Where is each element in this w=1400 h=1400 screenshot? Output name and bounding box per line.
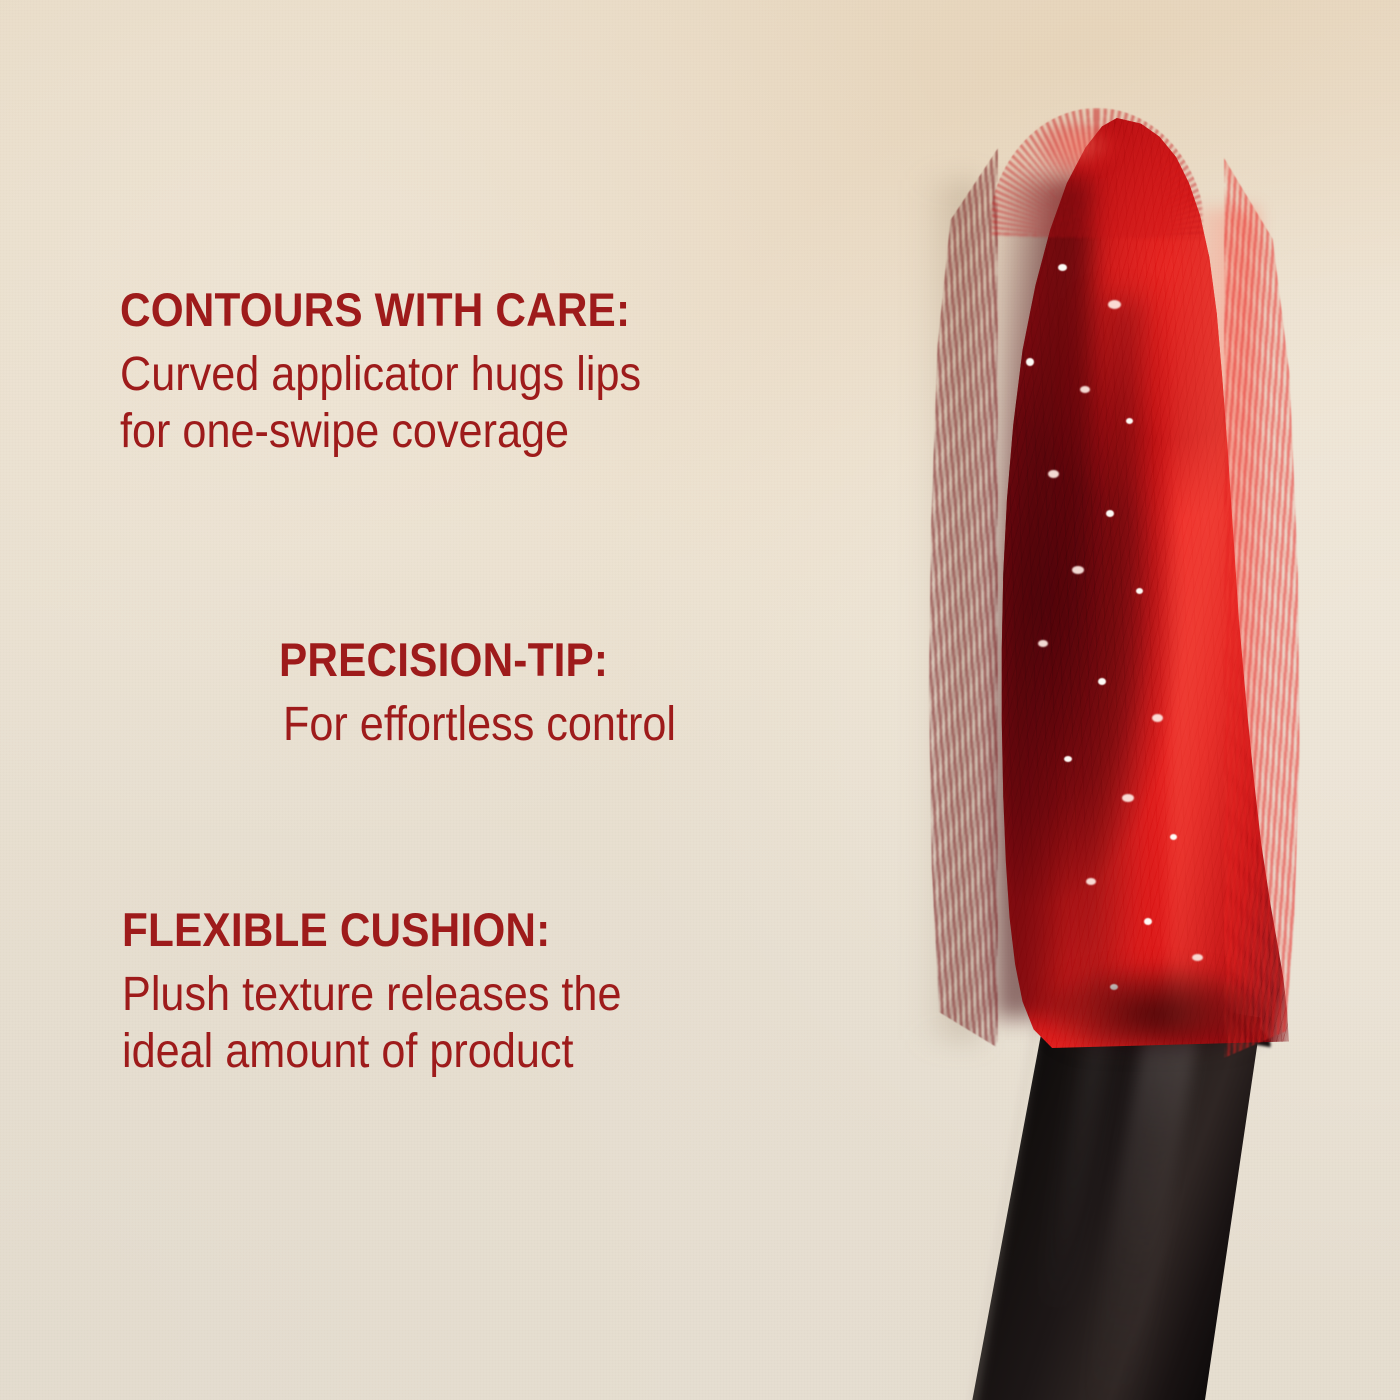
feature-heading: FLEXIBLE CUSHION: [122, 906, 621, 953]
feature-heading: PRECISION-TIP: [279, 636, 676, 683]
feature-body-line: For effortless control [283, 699, 676, 751]
feature-body-line: for one-swipe coverage [120, 406, 641, 458]
product-feature-graphic: CONTOURS WITH CARE: Curved applicator hu… [0, 0, 1400, 1400]
feature-block-contours-with-care: CONTOURS WITH CARE: Curved applicator hu… [120, 286, 699, 458]
feature-block-precision-tip: PRECISION-TIP: For effortless control [279, 636, 720, 751]
feature-body-line: Plush texture releases the [122, 969, 621, 1021]
feature-text-layer: CONTOURS WITH CARE: Curved applicator hu… [0, 0, 1400, 1400]
feature-block-flexible-cushion: FLEXIBLE CUSHION: Plush texture releases… [122, 906, 677, 1078]
feature-body-line: Curved applicator hugs lips [120, 349, 641, 401]
feature-heading: CONTOURS WITH CARE: [120, 286, 641, 333]
feature-body-line: ideal amount of product [122, 1026, 621, 1078]
